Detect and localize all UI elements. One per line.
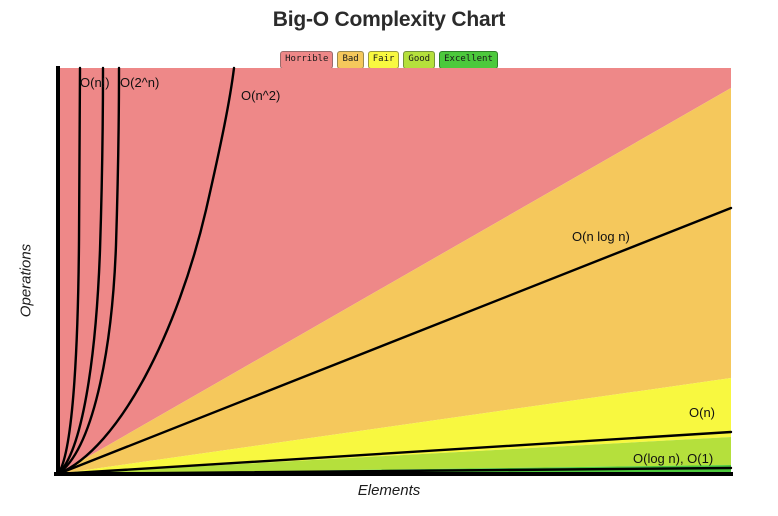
curve-label-log-n-and-constant: O(log n), O(1): [633, 451, 713, 466]
curve-label-n-factorial: O(n!): [80, 75, 110, 90]
curve-label-2-pow-n: O(2^n): [120, 75, 159, 90]
complexity-chart-svg: [0, 0, 778, 516]
chart-plot-area: Operations Elements O(n!) O(2^n) O(n^2) …: [0, 0, 778, 516]
curve-label-n: O(n): [689, 405, 715, 420]
region-bands: [58, 68, 731, 474]
curve-label-n-log-n: O(n log n): [572, 229, 630, 244]
curve-label-n-squared: O(n^2): [241, 88, 280, 103]
y-axis-label: Operations: [18, 241, 35, 321]
x-axis-label: Elements: [0, 482, 778, 499]
